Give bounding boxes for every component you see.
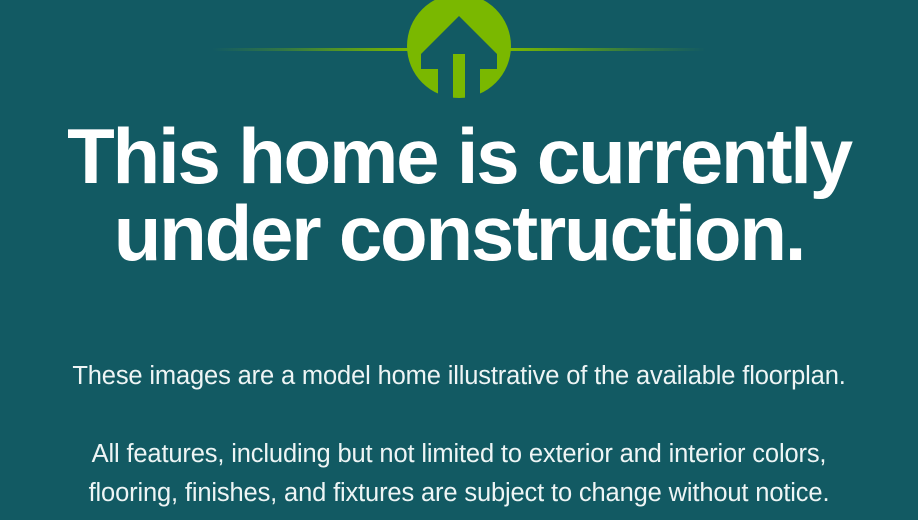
- page-title-line-1: This home is currently: [0, 118, 918, 195]
- disclaimer-text: These images are a model home illustrati…: [0, 357, 918, 512]
- logo-band: [0, 0, 918, 100]
- under-construction-notice: This home is currently under constructio…: [0, 0, 918, 520]
- disclaimer-paragraph-1: These images are a model home illustrati…: [0, 357, 918, 395]
- page-title: This home is currently under constructio…: [0, 118, 918, 272]
- home-arrow-circle-logo-icon: [407, 0, 511, 98]
- page-title-line-2: under construction.: [0, 195, 918, 272]
- disclaimer-paragraph-2-line-1: All features, including but not limited …: [0, 435, 918, 473]
- divider-rule-right-icon: [506, 48, 706, 51]
- disclaimer-paragraph-2-line-2: flooring, finishes, and fixtures are sub…: [0, 474, 918, 512]
- disclaimer-paragraph-2: All features, including but not limited …: [0, 435, 918, 512]
- disclaimer-paragraph-1-line-1: These images are a model home illustrati…: [0, 357, 918, 395]
- divider-rule-left-icon: [212, 48, 412, 51]
